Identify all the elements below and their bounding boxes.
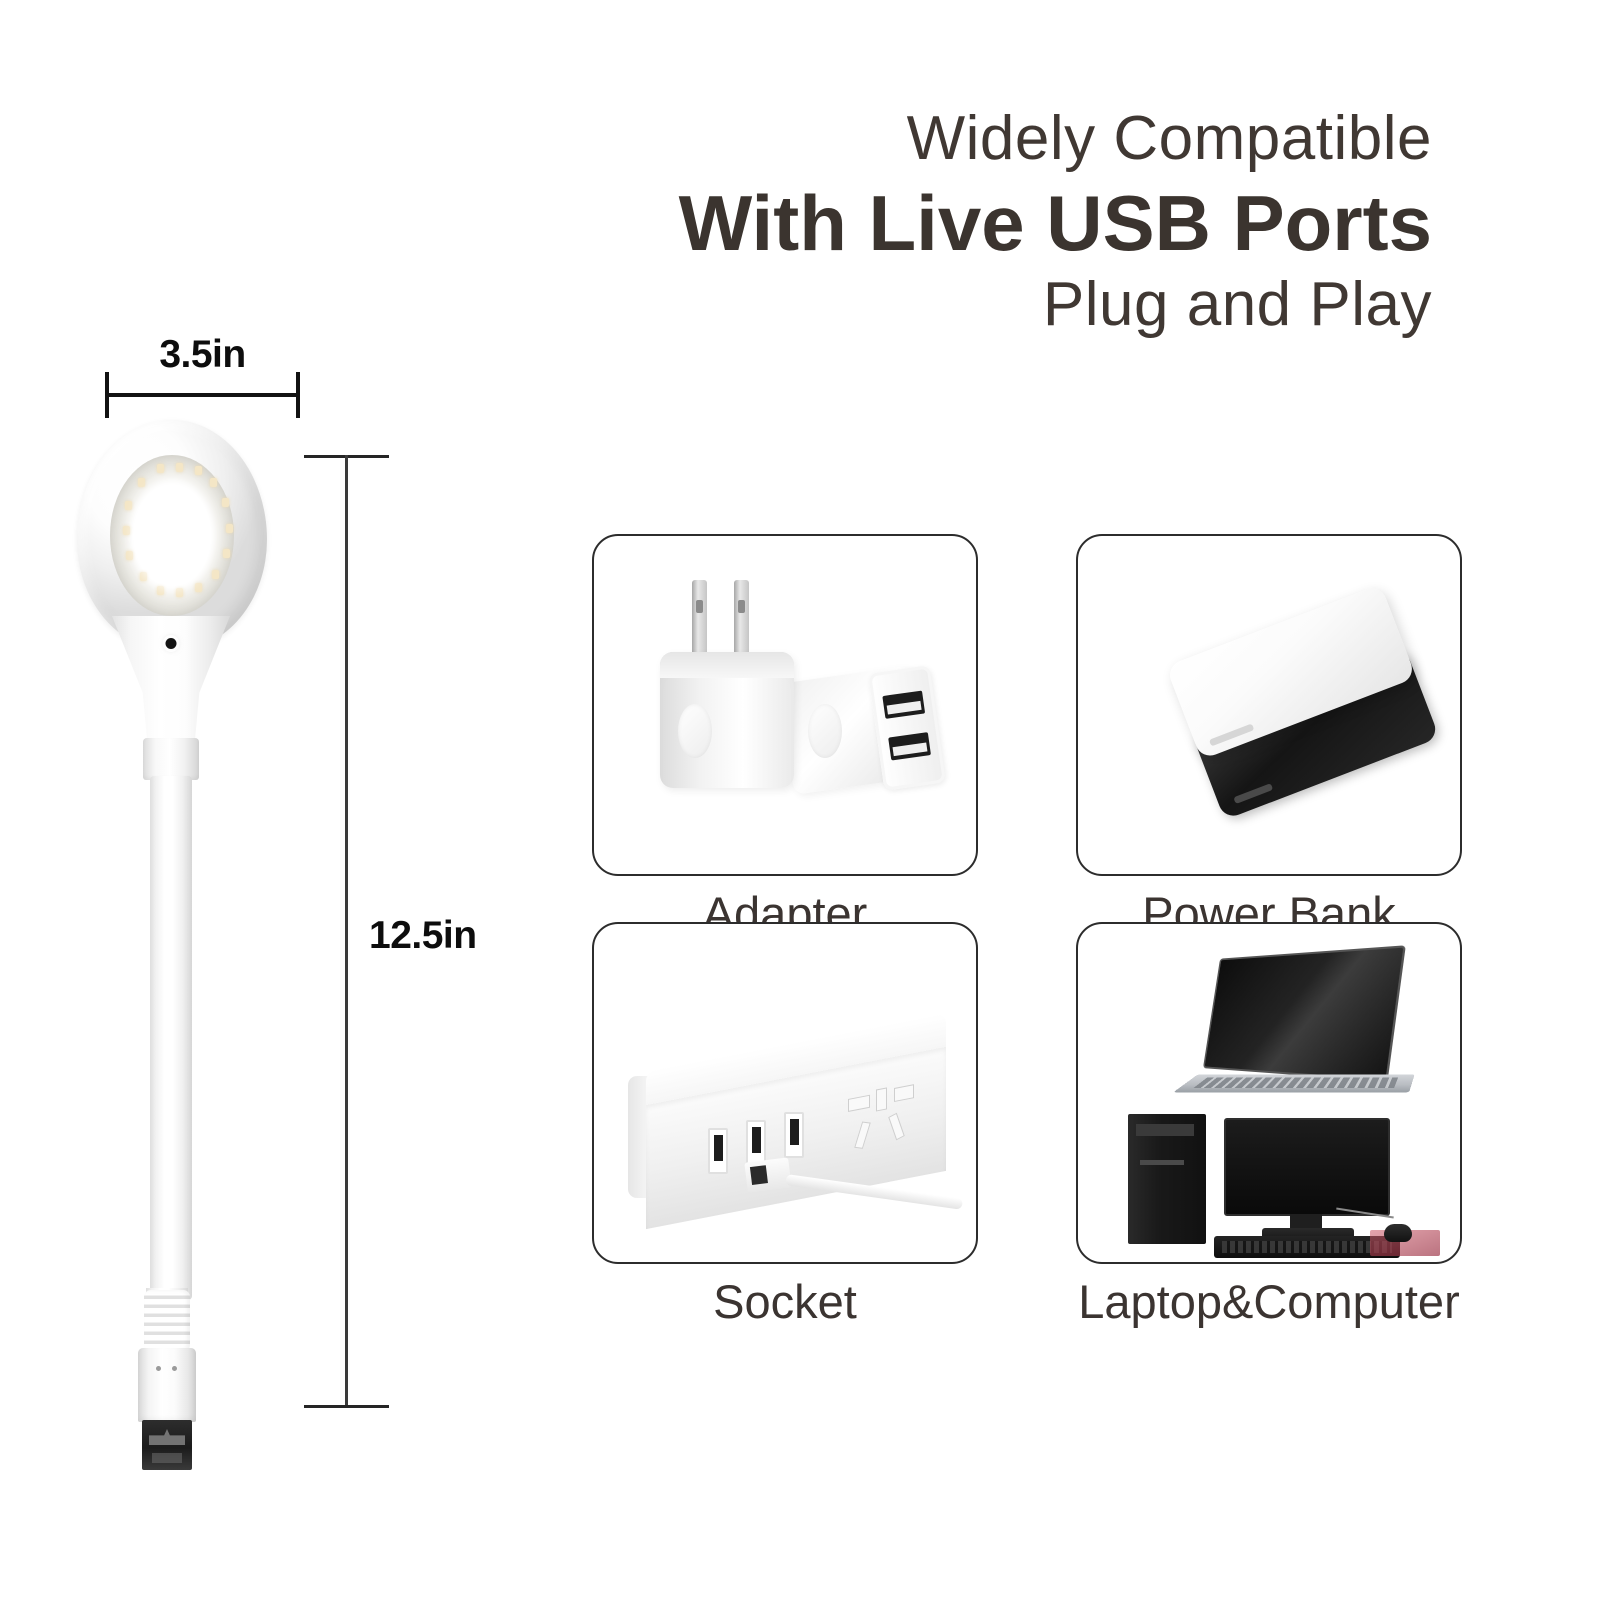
led-chip bbox=[223, 549, 230, 558]
led-chip bbox=[140, 572, 147, 581]
headline-line-3: Plug and Play bbox=[679, 274, 1432, 336]
headline-line-2: With Live USB Ports bbox=[679, 184, 1432, 262]
usb-a-plug-housing bbox=[138, 1348, 196, 1422]
dimension-height: 12.5in bbox=[345, 455, 346, 1408]
ac-slot-left bbox=[848, 1095, 870, 1112]
led-chip bbox=[123, 526, 130, 535]
led-chip bbox=[222, 498, 229, 507]
panel-power-bank[interactable] bbox=[1076, 534, 1462, 876]
dimension-width-cap-right bbox=[296, 372, 300, 418]
caption-laptop-computer: Laptop&Computer bbox=[1076, 1276, 1462, 1329]
compatibility-cell-adapter: Adapter (Not Included) bbox=[592, 534, 978, 876]
desktop-monitor bbox=[1224, 1118, 1390, 1216]
adapter-side-oval bbox=[808, 704, 842, 758]
desktop-tower bbox=[1128, 1114, 1206, 1244]
power-bank-icon bbox=[1078, 536, 1460, 874]
led-chip bbox=[176, 463, 183, 472]
cable-strain-relief bbox=[144, 1290, 190, 1352]
compatibility-grid: Adapter (Not Included) Power Bank bbox=[592, 534, 1492, 1494]
led-chip bbox=[138, 478, 145, 487]
yoke-body bbox=[112, 616, 230, 744]
compatibility-cell-power-bank: Power Bank bbox=[1076, 534, 1492, 876]
led-chip bbox=[226, 524, 233, 533]
panel-socket[interactable] bbox=[592, 922, 978, 1264]
adapter-side-oval bbox=[678, 704, 712, 758]
usb-port bbox=[888, 732, 931, 760]
ac-slot-angled-right bbox=[888, 1113, 905, 1141]
caption-socket-main: Socket bbox=[713, 1275, 857, 1328]
laptop-screen bbox=[1203, 945, 1406, 1082]
laptop-keyboard-base bbox=[1173, 1074, 1415, 1092]
flexible-gooseneck-shaft bbox=[150, 776, 192, 1300]
usb-port bbox=[882, 691, 925, 719]
dimension-height-label: 12.5in bbox=[369, 914, 477, 958]
panel-laptop-computer[interactable] bbox=[1076, 922, 1462, 1264]
plug-detail-dot bbox=[172, 1366, 177, 1371]
touch-switch-button[interactable] bbox=[166, 638, 177, 649]
led-chip bbox=[176, 588, 183, 597]
computer-mouse bbox=[1384, 1224, 1412, 1242]
laptop-desktop-icon bbox=[1078, 924, 1460, 1262]
caption-laptop-computer-main: Laptop&Computer bbox=[1078, 1275, 1459, 1328]
socket-usb-port bbox=[746, 1120, 766, 1166]
adapter-prong bbox=[734, 580, 749, 656]
lamp-neck-yoke bbox=[112, 616, 230, 744]
led-chip bbox=[195, 583, 202, 592]
usb-a-plug-contact bbox=[142, 1420, 192, 1470]
gooseneck-collar bbox=[143, 738, 199, 780]
dimension-width: 3.5in bbox=[105, 393, 300, 394]
headline-block: Widely Compatible With Live USB Ports Pl… bbox=[679, 108, 1432, 336]
led-chip bbox=[126, 551, 133, 560]
compatibility-cell-socket: Socket bbox=[592, 922, 978, 1494]
power-strip-socket-icon bbox=[594, 924, 976, 1262]
adapter-prong bbox=[692, 580, 707, 656]
compatibility-cell-laptop-computer: Laptop&Computer bbox=[1076, 922, 1492, 1494]
usb-wall-adapter-icon bbox=[594, 536, 976, 874]
led-chip bbox=[210, 478, 217, 487]
ring-light-aperture bbox=[138, 486, 207, 585]
led-chip bbox=[125, 501, 132, 510]
dimension-width-label: 3.5in bbox=[105, 333, 300, 377]
dimension-height-line bbox=[345, 455, 348, 1408]
ac-slot-angled-left bbox=[854, 1121, 871, 1148]
panel-adapter[interactable] bbox=[592, 534, 978, 876]
led-chip bbox=[195, 466, 202, 475]
dimension-width-line bbox=[105, 393, 300, 397]
led-chip bbox=[157, 586, 164, 595]
headline-line-1: Widely Compatible bbox=[679, 108, 1432, 170]
led-chip bbox=[157, 464, 164, 473]
plug-detail-dot bbox=[156, 1366, 161, 1371]
ac-slot-center bbox=[876, 1087, 887, 1111]
usb-ring-light-lamp bbox=[60, 420, 320, 1430]
socket-usb-port bbox=[784, 1112, 804, 1158]
socket-plugged-usb-connector bbox=[744, 1157, 791, 1192]
socket-usb-port bbox=[708, 1128, 728, 1174]
socket-ac-outlet bbox=[844, 1080, 924, 1174]
led-chip bbox=[212, 570, 219, 579]
ac-slot-right bbox=[894, 1084, 914, 1102]
caption-socket: Socket bbox=[592, 1276, 978, 1329]
